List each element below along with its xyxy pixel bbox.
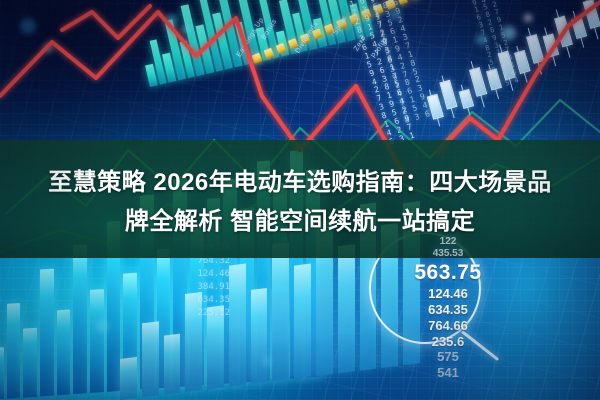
- banner-image: 4 2 8 1 0 5 7 3 6 2 9 4 8 1 7 3 5 2 6 4 …: [0, 0, 600, 400]
- vignette-overlay: [0, 0, 600, 400]
